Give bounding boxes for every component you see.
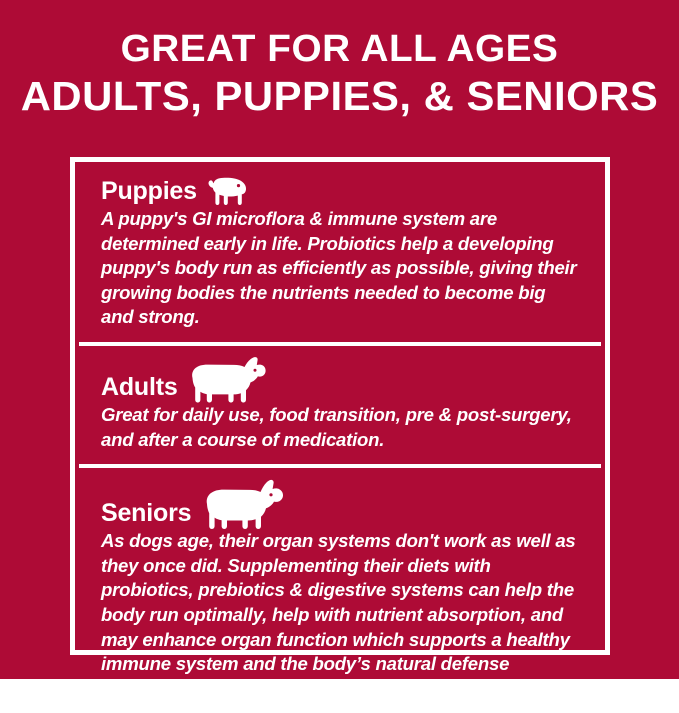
section-puppies-body: A puppy's GI microflora & immune system … <box>101 207 579 330</box>
headline-line-2: ADULTS, PUPPIES, & SENIORS <box>0 72 679 120</box>
content-frame: Puppies A puppy's GI microflora & immune… <box>70 157 610 655</box>
senior-dog-icon <box>204 478 286 530</box>
headline: GREAT FOR ALL AGES ADULTS, PUPPIES, & SE… <box>0 26 679 120</box>
section-puppies-title: Puppies <box>101 177 197 205</box>
section-seniors-body: As dogs age, their organ systems don't w… <box>101 529 579 701</box>
section-puppies-header: Puppies <box>101 176 579 206</box>
section-seniors: Seniors As dogs age, their organ systems… <box>79 464 601 713</box>
puppy-dog-icon <box>207 177 251 207</box>
section-seniors-title: Seniors <box>101 499 191 527</box>
content-frame-inner: Puppies A puppy's GI microflora & immune… <box>79 166 601 646</box>
section-seniors-header: Seniors <box>101 478 579 528</box>
headline-line-1: GREAT FOR ALL AGES <box>0 26 679 72</box>
section-adults-header: Adults <box>101 356 579 402</box>
section-puppies: Puppies A puppy's GI microflora & immune… <box>79 166 601 342</box>
section-adults-body: Great for daily use, food transition, pr… <box>101 403 579 452</box>
adult-dog-icon <box>190 356 268 404</box>
section-adults: Adults Great for daily use, food transit… <box>79 342 601 464</box>
infographic-panel: GREAT FOR ALL AGES ADULTS, PUPPIES, & SE… <box>0 0 679 679</box>
section-adults-title: Adults <box>101 373 178 401</box>
